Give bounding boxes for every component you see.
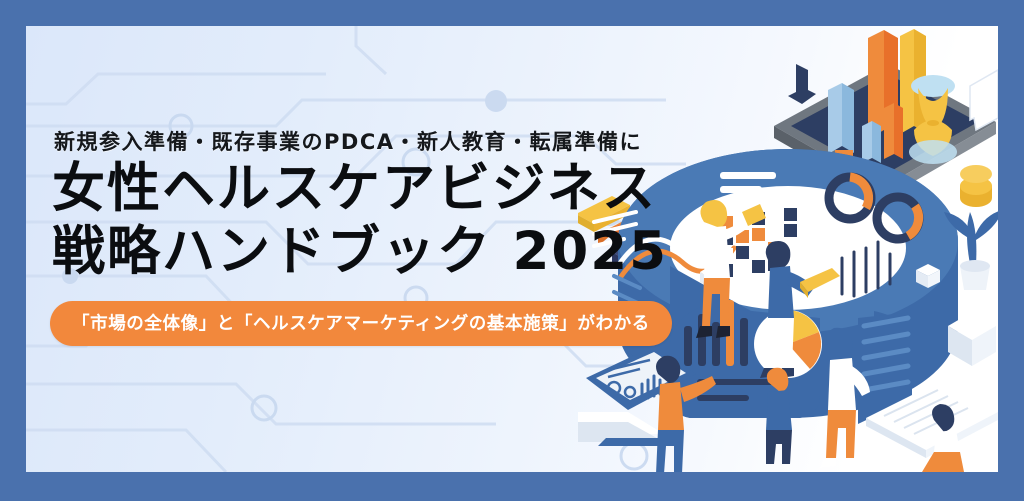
banner-inner-panel: 新規参入準備・既存事業のPDCA・新人教育・転属準備に 女性ヘルスケアビジネス … xyxy=(26,26,998,472)
chart-speech-bubble xyxy=(970,26,998,130)
coin-stack xyxy=(960,165,992,207)
hero-subtitle-pill: 「市場の全体像」と「ヘルスケアマーケティングの基本施策」がわかる xyxy=(50,301,672,346)
promo-banner: 新規参入準備・既存事業のPDCA・新人教育・転属準備に 女性ヘルスケアビジネス … xyxy=(0,0,1024,501)
hero-title-line-2: 戦略ハンドブック 2025 xyxy=(52,225,698,280)
hero-title-line-1: 女性ヘルスケアビジネス xyxy=(52,162,698,217)
arrow-down-icon xyxy=(788,64,816,104)
person-child xyxy=(766,368,792,464)
hero-kicker: 新規参入準備・既存事業のPDCA・新人教育・転属準備に xyxy=(54,126,698,156)
hero-text-block: 新規参入準備・既存事業のPDCA・新人教育・転属準備に 女性ヘルスケアビジネス … xyxy=(38,126,698,346)
